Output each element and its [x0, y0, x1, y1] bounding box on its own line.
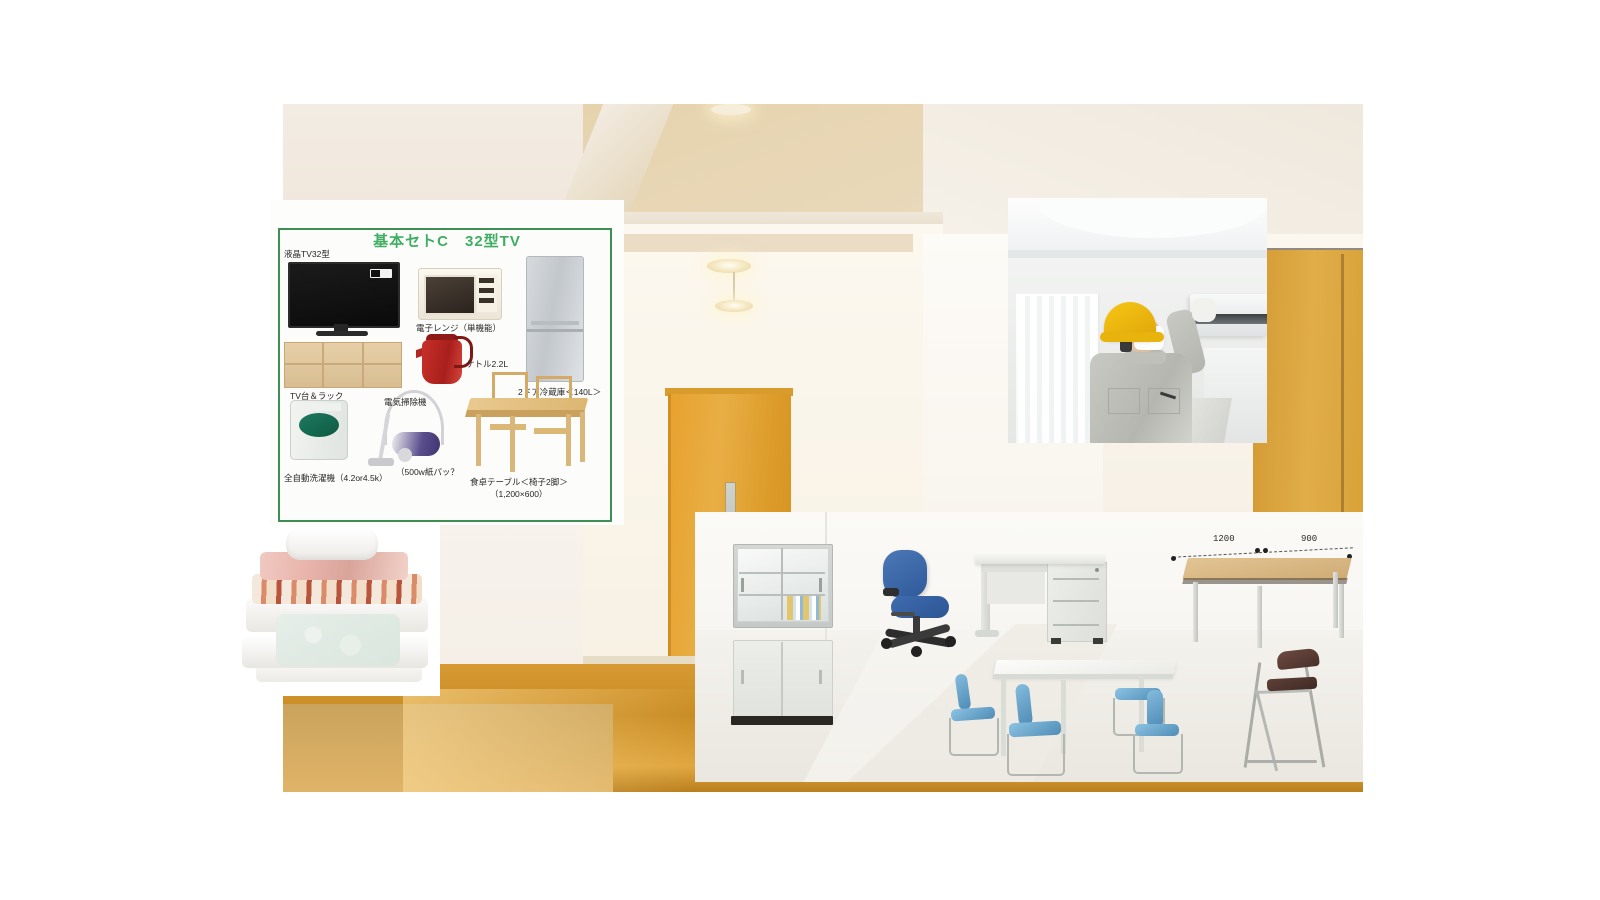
desk-pedestal	[1047, 562, 1107, 642]
desk-foot	[975, 630, 999, 637]
dimension-marker-3	[1263, 548, 1268, 553]
large-table-leg-2	[1333, 572, 1338, 628]
office-chair-caster-3	[911, 646, 922, 657]
microwave-label: 電子レンジ（単機能）	[416, 322, 501, 334]
office-chair-lever	[891, 612, 915, 616]
cabinet-solid-icon	[733, 640, 833, 720]
cabinet-solid-base	[731, 716, 833, 725]
table-width-label: 1200	[1213, 534, 1235, 544]
vacuum-label: 電気掃除機	[384, 396, 427, 408]
desk-lock-icon	[1095, 568, 1099, 572]
television-icon	[288, 262, 400, 328]
dining-table-leg-2	[566, 414, 571, 466]
desk-drawer-2	[1053, 600, 1099, 602]
cabinet-solid-handle-left	[741, 670, 744, 684]
washing-machine-icon	[290, 400, 348, 460]
tv-label: 液晶TV32型	[284, 248, 330, 260]
uniform-pocket-left	[1108, 388, 1140, 414]
cabinet-glass-handle-left	[741, 578, 744, 592]
dining-table-leg-1	[476, 414, 481, 466]
meeting-chair-2-frame	[1007, 734, 1065, 776]
tv-stand	[316, 331, 368, 336]
light-cord	[733, 272, 735, 300]
technician-collar	[1124, 350, 1166, 364]
desk-apron	[981, 564, 1047, 572]
futon-bedding-photo	[232, 518, 440, 696]
dining-chair-2-seat	[534, 428, 570, 434]
dimension-marker-1	[1171, 556, 1176, 561]
office-chair-caster-1	[881, 638, 892, 649]
tv-rack-icon	[284, 342, 402, 388]
futon-lace-comforter	[276, 614, 400, 666]
refrigerator-icon	[526, 256, 584, 382]
screenshot-stage: 基本セトC 32型TV 液晶TV32型 TV台＆ラック 電子レンジ（単機能） ケ…	[0, 0, 1600, 900]
vacuum-wheel	[398, 448, 412, 462]
table-depth-label: 900	[1301, 534, 1317, 544]
ceiling-light-far-icon	[711, 104, 751, 115]
office-furniture-photo: 1200 900	[695, 512, 1363, 782]
desk-drawer-1	[1053, 578, 1099, 580]
desk-pedestal-foot-1	[1051, 638, 1061, 644]
washing-machine-label: 全自動洗濯機（4.2or4.5k）	[284, 472, 387, 484]
dining-table-label: 食卓テーブル＜椅子2脚＞	[470, 476, 568, 488]
cabinet-books	[787, 596, 821, 620]
cabinet-solid-divider	[781, 642, 783, 716]
large-table-icon	[1182, 558, 1351, 580]
downlight-1-icon	[707, 259, 751, 273]
office-chair-arm	[883, 588, 899, 596]
tv-size-badge	[370, 269, 392, 278]
dining-table-leg-3	[510, 416, 515, 472]
dining-chair-1-seat	[490, 424, 526, 430]
air-conditioner-installation-photo	[1008, 198, 1267, 443]
meeting-chair-4-frame	[1133, 734, 1183, 774]
meeting-table-edge	[992, 674, 1173, 679]
futon-pillow	[286, 528, 378, 560]
vacuum-head	[368, 458, 394, 466]
hallway-soffit	[583, 234, 913, 252]
cabinet-glass-divider	[781, 548, 783, 620]
hard-hat-brim	[1100, 332, 1164, 342]
dining-table-leg-4	[580, 412, 585, 462]
dining-table-size-label: （1,200×600）	[490, 488, 547, 500]
dimension-marker-2	[1255, 548, 1260, 553]
meeting-chair-1-frame	[949, 718, 999, 756]
desk-modesty-panel	[987, 570, 1045, 604]
basic-set-c-panel: 基本セトC 32型TV 液晶TV32型 TV台＆ラック 電子レンジ（単機能） ケ…	[270, 200, 624, 525]
office-chair-caster-2	[945, 636, 956, 647]
large-table-leg-3	[1257, 586, 1262, 648]
desk-drawer-3	[1053, 624, 1099, 626]
large-table-leg-4	[1339, 584, 1344, 638]
meeting-chair-4-back	[1147, 690, 1163, 728]
folding-chair-crossbar	[1247, 760, 1317, 763]
microwave-icon	[418, 268, 502, 320]
large-table-edge	[1182, 578, 1347, 584]
ac-room-curtain	[1018, 296, 1096, 443]
desk-icon	[975, 554, 1105, 564]
vacuum-note-label: （500w紙パッ？	[396, 466, 459, 478]
meeting-table-leg-1	[1001, 678, 1006, 756]
kettle-label: ケトル2.2L	[466, 358, 508, 370]
cabinet-solid-handle-right	[819, 670, 822, 684]
desk-pedestal-foot-2	[1093, 638, 1103, 644]
downlight-2-icon	[715, 300, 753, 312]
cabinet-glass-handle-right	[819, 578, 822, 592]
large-table-leg-1	[1193, 582, 1198, 642]
technician-glove	[1192, 298, 1216, 322]
